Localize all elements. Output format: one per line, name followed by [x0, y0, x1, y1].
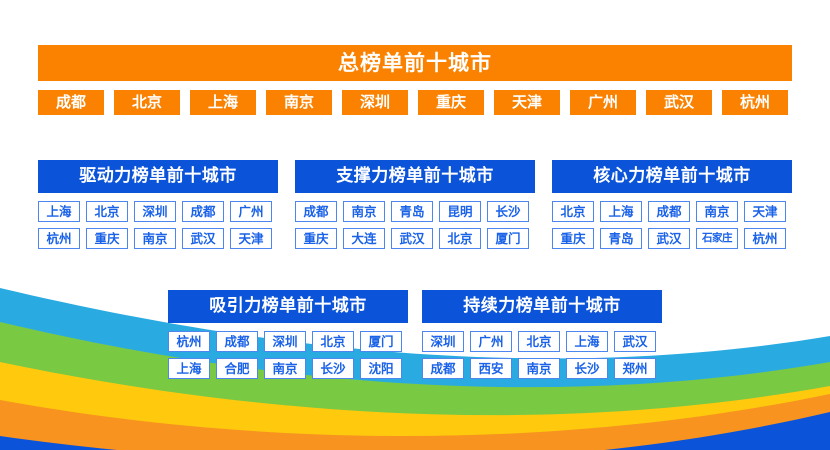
city-tag[interactable]: 成都: [295, 201, 337, 222]
city-tag[interactable]: 青岛: [600, 228, 642, 249]
city-tag[interactable]: 武汉: [391, 228, 433, 249]
city-tag[interactable]: 上海: [566, 331, 608, 352]
city-tag[interactable]: 沈阳: [360, 358, 402, 379]
overall-city-tag[interactable]: 重庆: [418, 90, 484, 115]
city-tag[interactable]: 长沙: [312, 358, 354, 379]
panel-row-primary: 驱动力榜单前十城市上海北京深圳成都广州杭州重庆南京武汉天津支撑力榜单前十城市成都…: [38, 160, 792, 255]
city-tag[interactable]: 大连: [343, 228, 385, 249]
city-tag[interactable]: 杭州: [744, 228, 786, 249]
city-tag[interactable]: 青岛: [391, 201, 433, 222]
city-tag[interactable]: 西安: [470, 358, 512, 379]
city-tag[interactable]: 昆明: [439, 201, 481, 222]
city-tag[interactable]: 南京: [343, 201, 385, 222]
panel-supporting-force: 支撑力榜单前十城市成都南京青岛昆明长沙重庆大连武汉北京厦门: [295, 160, 535, 255]
city-tag[interactable]: 厦门: [487, 228, 529, 249]
overall-city-list: 成都北京上海南京深圳重庆天津广州武汉杭州: [38, 90, 788, 115]
city-tag[interactable]: 南京: [518, 358, 560, 379]
panel-city-grid-attraction-force: 杭州成都深圳北京厦门上海合肥南京长沙沈阳: [168, 331, 408, 385]
city-tag[interactable]: 成都: [648, 201, 690, 222]
content-layer: 总榜单前十城市 成都北京上海南京深圳重庆天津广州武汉杭州 驱动力榜单前十城市上海…: [0, 0, 830, 450]
city-tag[interactable]: 郑州: [614, 358, 656, 379]
city-tag[interactable]: 武汉: [182, 228, 224, 249]
overall-city-tag[interactable]: 南京: [266, 90, 332, 115]
city-tag[interactable]: 深圳: [422, 331, 464, 352]
city-tag[interactable]: 深圳: [134, 201, 176, 222]
panel-title-attraction-force: 吸引力榜单前十城市: [168, 290, 408, 323]
city-tag[interactable]: 广州: [230, 201, 272, 222]
city-tag[interactable]: 天津: [230, 228, 272, 249]
city-tag[interactable]: 武汉: [648, 228, 690, 249]
infographic-root: 总榜单前十城市 成都北京上海南京深圳重庆天津广州武汉杭州 驱动力榜单前十城市上海…: [0, 0, 830, 450]
city-tag[interactable]: 上海: [600, 201, 642, 222]
city-tag[interactable]: 重庆: [295, 228, 337, 249]
city-tag[interactable]: 南京: [696, 201, 738, 222]
panel-title-supporting-force: 支撑力榜单前十城市: [295, 160, 535, 193]
overall-city-tag[interactable]: 天津: [494, 90, 560, 115]
city-tag[interactable]: 杭州: [38, 228, 80, 249]
panel-sustaining-force: 持续力榜单前十城市深圳广州北京上海武汉成都西安南京长沙郑州: [422, 290, 662, 385]
overall-city-tag[interactable]: 杭州: [722, 90, 788, 115]
city-tag[interactable]: 成都: [182, 201, 224, 222]
overall-city-tag[interactable]: 上海: [190, 90, 256, 115]
panel-city-grid-supporting-force: 成都南京青岛昆明长沙重庆大连武汉北京厦门: [295, 201, 535, 255]
panel-attraction-force: 吸引力榜单前十城市杭州成都深圳北京厦门上海合肥南京长沙沈阳: [168, 290, 408, 385]
city-tag[interactable]: 北京: [552, 201, 594, 222]
city-tag[interactable]: 重庆: [86, 228, 128, 249]
city-tag[interactable]: 石家庄: [696, 228, 738, 249]
overall-city-tag[interactable]: 成都: [38, 90, 104, 115]
city-tag[interactable]: 南京: [134, 228, 176, 249]
overall-city-tag[interactable]: 武汉: [646, 90, 712, 115]
panel-title-core-force: 核心力榜单前十城市: [552, 160, 792, 193]
panel-core-force: 核心力榜单前十城市北京上海成都南京天津重庆青岛武汉石家庄杭州: [552, 160, 792, 255]
city-tag[interactable]: 北京: [518, 331, 560, 352]
overall-ranking-title: 总榜单前十城市: [38, 45, 792, 81]
city-tag[interactable]: 天津: [744, 201, 786, 222]
city-tag[interactable]: 南京: [264, 358, 306, 379]
city-tag[interactable]: 长沙: [566, 358, 608, 379]
overall-city-tag[interactable]: 北京: [114, 90, 180, 115]
panel-title-sustaining-force: 持续力榜单前十城市: [422, 290, 662, 323]
overall-city-tag[interactable]: 深圳: [342, 90, 408, 115]
city-tag[interactable]: 北京: [86, 201, 128, 222]
city-tag[interactable]: 深圳: [264, 331, 306, 352]
city-tag[interactable]: 厦门: [360, 331, 402, 352]
overall-ranking-block: 总榜单前十城市 成都北京上海南京深圳重庆天津广州武汉杭州: [38, 45, 792, 115]
city-tag[interactable]: 成都: [216, 331, 258, 352]
city-tag[interactable]: 重庆: [552, 228, 594, 249]
city-tag[interactable]: 武汉: [614, 331, 656, 352]
city-tag[interactable]: 合肥: [216, 358, 258, 379]
city-tag[interactable]: 北京: [312, 331, 354, 352]
panel-city-grid-driving-force: 上海北京深圳成都广州杭州重庆南京武汉天津: [38, 201, 278, 255]
city-tag[interactable]: 广州: [470, 331, 512, 352]
city-tag[interactable]: 长沙: [487, 201, 529, 222]
panel-title-driving-force: 驱动力榜单前十城市: [38, 160, 278, 193]
city-tag[interactable]: 北京: [439, 228, 481, 249]
panel-city-grid-sustaining-force: 深圳广州北京上海武汉成都西安南京长沙郑州: [422, 331, 662, 385]
city-tag[interactable]: 杭州: [168, 331, 210, 352]
overall-city-tag[interactable]: 广州: [570, 90, 636, 115]
panel-row-secondary: 吸引力榜单前十城市杭州成都深圳北京厦门上海合肥南京长沙沈阳持续力榜单前十城市深圳…: [168, 290, 662, 385]
panel-city-grid-core-force: 北京上海成都南京天津重庆青岛武汉石家庄杭州: [552, 201, 792, 255]
city-tag[interactable]: 上海: [38, 201, 80, 222]
city-tag[interactable]: 上海: [168, 358, 210, 379]
city-tag[interactable]: 成都: [422, 358, 464, 379]
panel-driving-force: 驱动力榜单前十城市上海北京深圳成都广州杭州重庆南京武汉天津: [38, 160, 278, 255]
